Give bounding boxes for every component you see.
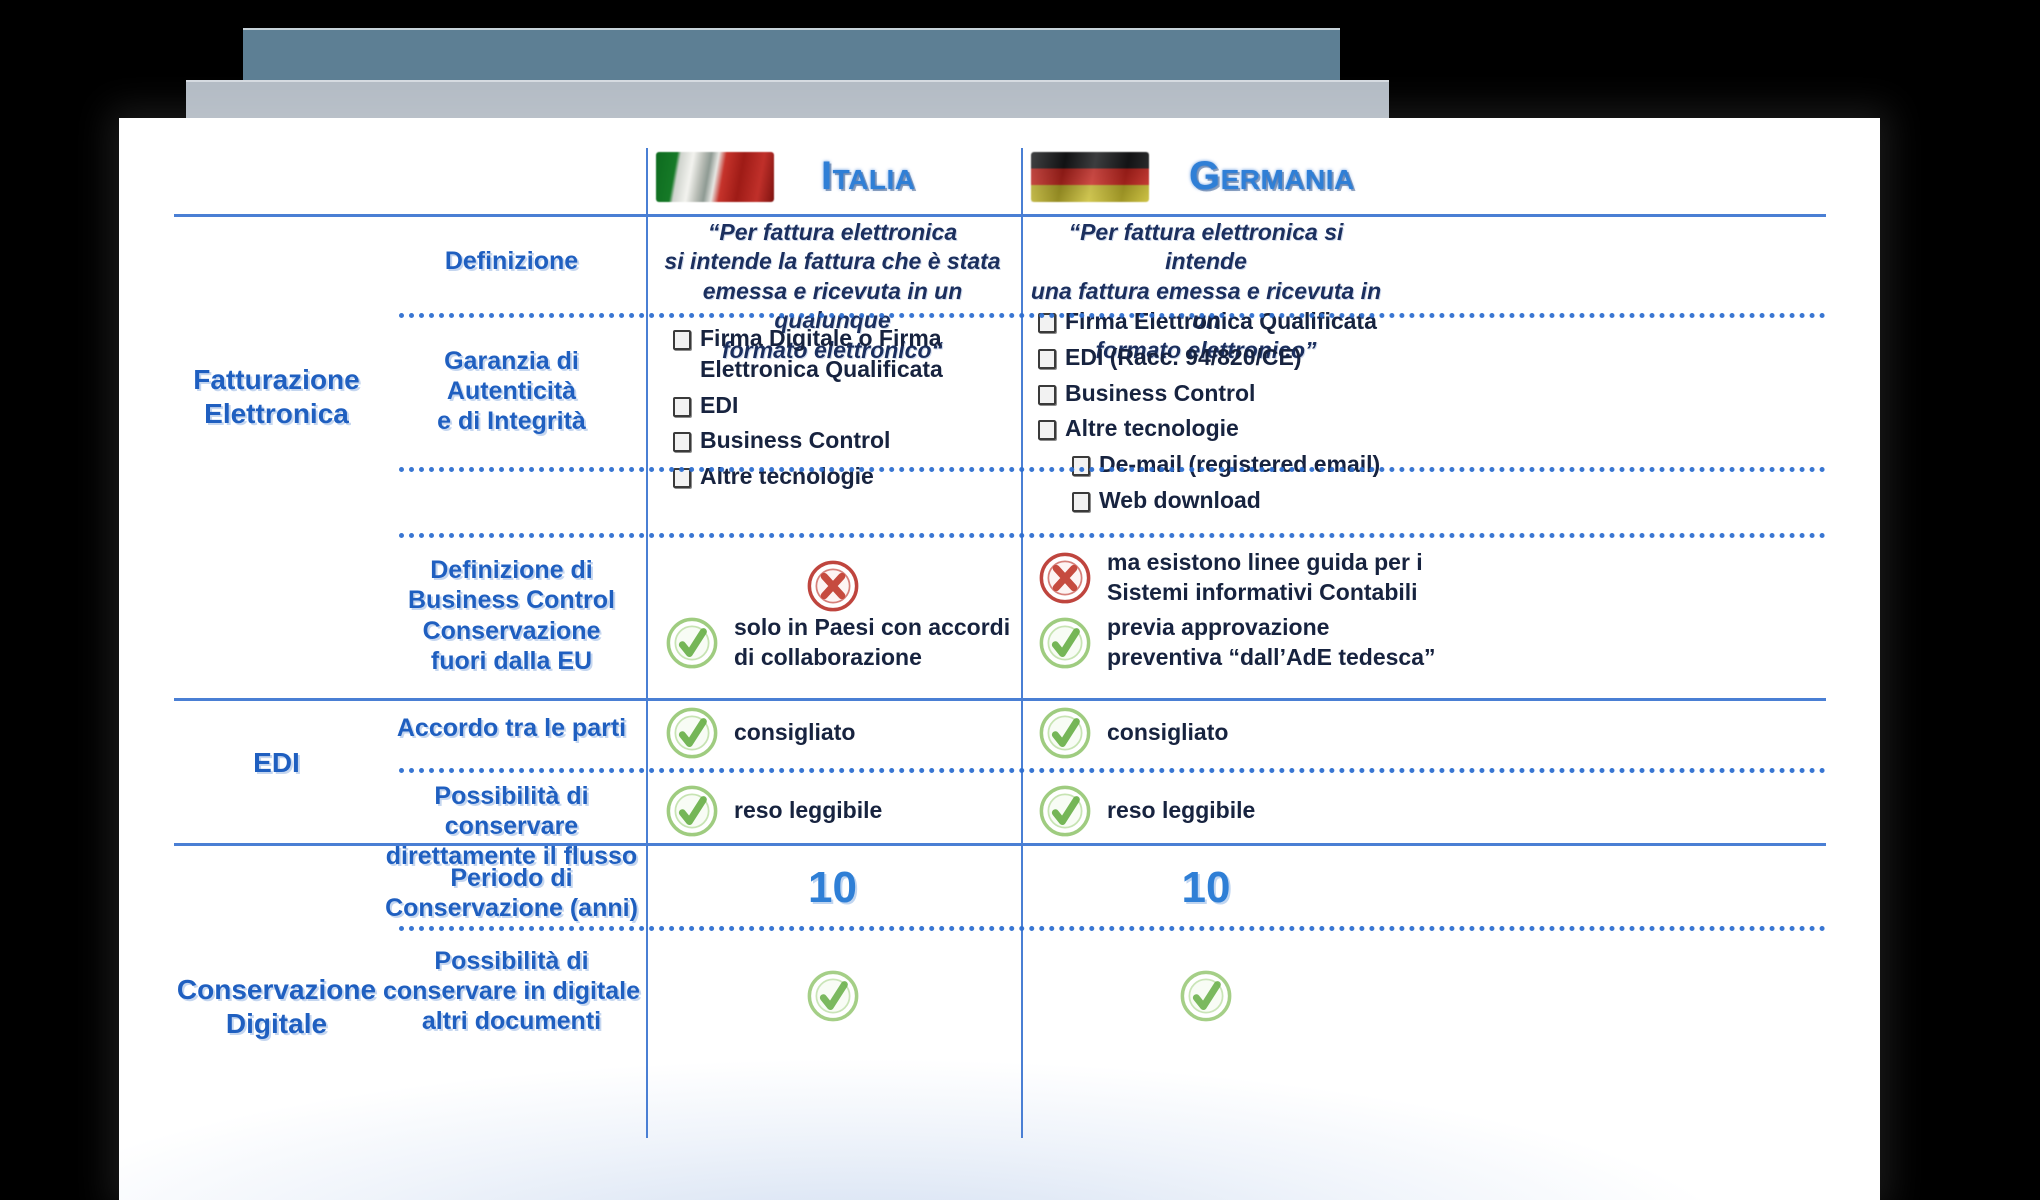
note-line: Sistemi informativi Contabili — [1107, 578, 1423, 608]
slide-card: Italia Germania Fatturazione Elettron — [119, 118, 1880, 1200]
screenshot-stage: Italia Germania Fatturazione Elettron — [0, 0, 2040, 1200]
cell-conservazione-fuori-eu-germania: previa approvazione preventiva “dall’AdE… — [1037, 613, 1436, 673]
list-item: Business Control — [1035, 378, 1391, 409]
note-line: preventiva “dall’AdE tedesca” — [1107, 643, 1436, 673]
note-line: di collaborazione — [734, 643, 1010, 673]
row-label-possibilita-flusso: Possibilità di conservare direttamente i… — [379, 781, 644, 871]
row-label-line: Possibilità di conservare — [379, 781, 644, 841]
note-line: consigliato — [1107, 718, 1228, 748]
list-item-label: Web download — [1099, 487, 1261, 513]
row-label-line: Garanzia di — [379, 346, 644, 376]
list-item-label-cont: Elettronica Qualificata — [700, 354, 1019, 385]
row-divider-garanzia — [399, 467, 1826, 472]
list-item: Business Control — [670, 425, 1019, 456]
check-circle-icon — [664, 615, 720, 671]
flag-germany-icon — [1031, 152, 1149, 202]
header-cell-italia: Italia — [646, 146, 1019, 208]
column-divider-germania — [1021, 148, 1023, 1138]
list-item: Firma Digitale o Firma Elettronica Quali… — [670, 323, 1019, 385]
note-line: reso leggibile — [1107, 796, 1255, 826]
check-circle-icon — [664, 705, 720, 761]
list-item-label: Altre tecnologie — [1065, 415, 1239, 441]
section-label-fatturazione-elettronica: Fatturazione Elettronica — [174, 363, 379, 431]
row-label-definizione: Definizione — [379, 246, 644, 276]
row-label-line: altri documenti — [379, 1006, 644, 1036]
cell-accordo-parti-germania: consigliato — [1037, 705, 1228, 761]
cell-business-control-germania: ma esistono linee guida per i Sistemi in… — [1037, 548, 1423, 608]
cross-circle-icon — [1037, 550, 1093, 606]
note-line: solo in Paesi con accordi — [734, 613, 1010, 643]
row-label-line: conservare in digitale — [379, 976, 644, 1006]
row-label-line: Periodo di — [379, 863, 644, 893]
check-circle-icon — [1037, 705, 1093, 761]
row-divider-accordo — [399, 768, 1826, 773]
cell-periodo-conservazione-italia: 10 — [646, 863, 1019, 913]
section-rule-top — [174, 214, 1826, 217]
list-item-label: De-mail (registered email) — [1099, 451, 1380, 477]
list-item-label: Firma Digitale o Firma — [700, 325, 942, 351]
row-label-garanzia: Garanzia di Autenticità e di Integrità — [379, 346, 644, 436]
cell-periodo-conservazione-germania: 10 — [1021, 863, 1391, 913]
quote-line: “Per fattura elettronica — [652, 218, 1013, 247]
cell-altri-documenti-italia — [646, 968, 1019, 1024]
section-label-conservazione-digitale: Conservazione Digitale — [174, 973, 379, 1041]
row-label-line: Accordo tra le parti — [379, 713, 644, 743]
section-rule-edi — [174, 698, 1826, 701]
row-label-line: Possibilità di — [379, 946, 644, 976]
list-item: Web download — [1035, 485, 1391, 516]
row-label-line: fuori dalla EU — [379, 646, 644, 676]
list-item: De-mail (registered email) — [1035, 449, 1391, 480]
note-line: ma esistono linee guida per i — [1107, 548, 1423, 578]
column-divider-italia — [646, 148, 648, 1138]
row-label-altri-documenti: Possibilità di conservare in digitale al… — [379, 946, 644, 1036]
cell-altri-documenti-germania — [1021, 968, 1391, 1024]
list-item-label: EDI (Racc. 94/820/CE) — [1065, 344, 1302, 370]
comparison-table: Italia Germania Fatturazione Elettron — [119, 118, 1880, 1200]
list-item: Altre tecnologie — [1035, 413, 1391, 444]
list-item-label: Firma Elettronica Qualificata — [1065, 308, 1377, 334]
quote-line: si intende la fattura che è stata — [652, 247, 1013, 276]
list-item: EDI (Racc. 94/820/CE) — [1035, 342, 1391, 373]
cell-note-possibilita-flusso-germania: reso leggibile — [1107, 796, 1255, 826]
section-label-line: EDI — [174, 746, 379, 780]
note-line: previa approvazione — [1107, 613, 1436, 643]
row-label-accordo-parti: Accordo tra le parti — [379, 713, 644, 743]
cell-note-conservazione-fuori-eu-germania: previa approvazione preventiva “dall’AdE… — [1107, 613, 1436, 673]
section-label-line: Fatturazione — [174, 363, 379, 397]
row-label-line: Conservazione (anni) — [379, 893, 644, 923]
cell-conservazione-fuori-eu-italia: solo in Paesi con accordi di collaborazi… — [664, 613, 1010, 673]
cell-accordo-parti-italia: consigliato — [664, 705, 855, 761]
section-label-line: Elettronica — [174, 397, 379, 431]
cell-note-accordo-parti-germania: consigliato — [1107, 718, 1228, 748]
cross-circle-icon — [805, 558, 861, 614]
cell-garanzia-germania: Firma Elettronica Qualificata EDI (Racc.… — [1021, 306, 1391, 521]
row-divider-periodo — [399, 926, 1826, 931]
note-line: reso leggibile — [734, 796, 882, 826]
cell-business-control-italia — [646, 558, 1019, 614]
list-item-label: Business Control — [700, 427, 890, 453]
section-label-line: Digitale — [174, 1007, 379, 1041]
list-item-label: Business Control — [1065, 380, 1255, 406]
check-circle-icon — [1037, 783, 1093, 839]
section-rule-conservazione — [174, 843, 1826, 846]
country-label-germania: Germania — [1189, 154, 1355, 199]
note-line: consigliato — [734, 718, 855, 748]
row-label-periodo-conservazione: Periodo di Conservazione (anni) — [379, 863, 644, 923]
cell-possibilita-flusso-italia: reso leggibile — [664, 783, 882, 839]
cell-note-conservazione-fuori-eu-italia: solo in Paesi con accordi di collaborazi… — [734, 613, 1010, 673]
check-circle-icon — [805, 968, 861, 1024]
cell-note-accordo-parti-italia: consigliato — [734, 718, 855, 748]
check-circle-icon — [1037, 615, 1093, 671]
row-divider-definizione — [399, 313, 1826, 318]
row-label-line: Autenticità — [379, 376, 644, 406]
flag-italy-icon — [656, 152, 774, 202]
row-label-conservazione-fuori-eu: Conservazione fuori dalla EU — [379, 616, 644, 676]
row-label-line: e di Integrità — [379, 406, 644, 436]
check-circle-icon — [664, 783, 720, 839]
section-label-line: Conservazione — [174, 973, 379, 1007]
list-item-label: EDI — [700, 392, 738, 418]
cell-possibilita-flusso-germania: reso leggibile — [1037, 783, 1255, 839]
list-item: Altre tecnologie — [670, 461, 1019, 492]
quote-line: “Per fattura elettronica si intende — [1027, 218, 1385, 277]
country-label-italia: Italia — [821, 154, 915, 199]
deco-card-back-blue — [243, 28, 1340, 82]
row-divider-business-control — [399, 533, 1826, 538]
row-label-line: Business Control — [379, 585, 644, 615]
cell-note-possibilita-flusso-italia: reso leggibile — [734, 796, 882, 826]
header-cell-germania: Germania — [1021, 146, 1391, 208]
check-circle-icon — [1178, 968, 1234, 1024]
section-label-edi: EDI — [174, 746, 379, 780]
row-label-line: Definizione — [379, 246, 644, 276]
row-label-line: Conservazione — [379, 616, 644, 646]
row-label-business-control: Definizione di Business Control — [379, 555, 644, 615]
list-item: Firma Elettronica Qualificata — [1035, 306, 1391, 337]
list-item: EDI — [670, 390, 1019, 421]
cell-note-business-control-germania: ma esistono linee guida per i Sistemi in… — [1107, 548, 1423, 608]
row-label-line: Definizione di — [379, 555, 644, 585]
